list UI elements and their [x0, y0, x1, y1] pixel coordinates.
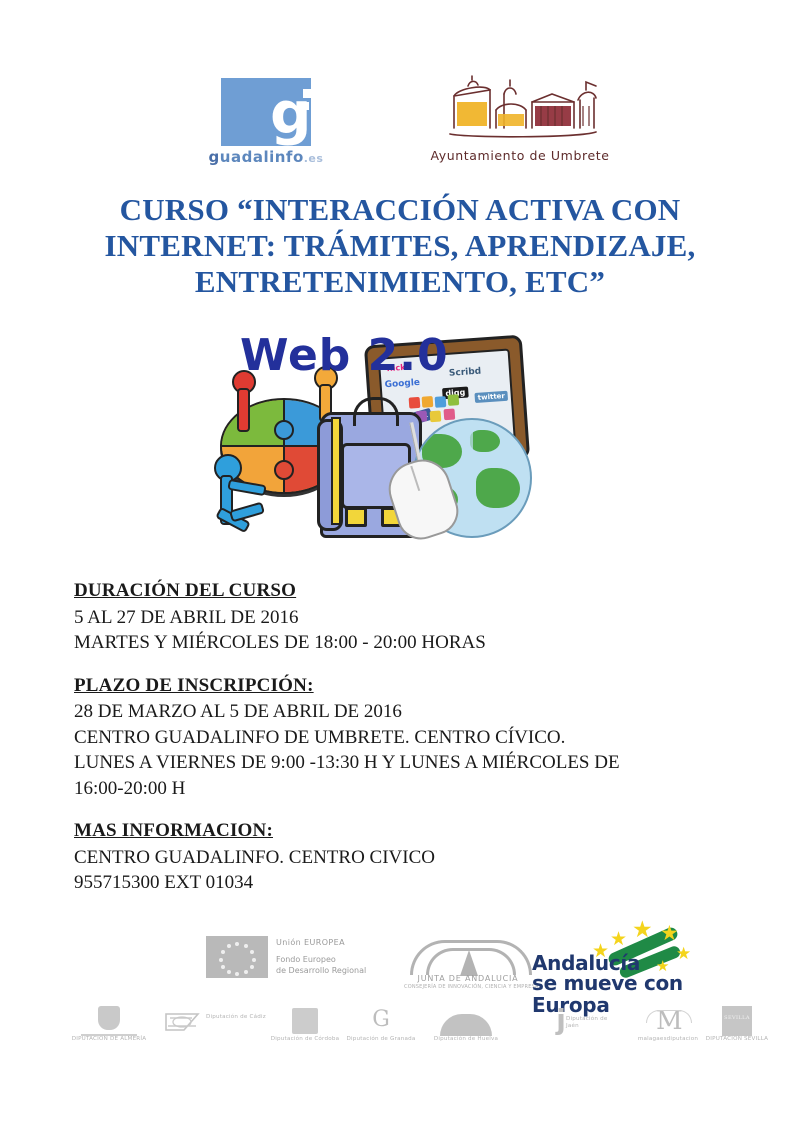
guadalinfo-wordmark-rest: uadalinfo: [220, 148, 304, 166]
eu-stars-icon: [206, 936, 268, 978]
andalucia-star-icon: ★: [660, 924, 679, 943]
poster-body-text: DURACIÓN DEL CURSO 5 AL 27 DE ABRIL DE 2…: [74, 578, 734, 913]
section-plazo-heading: PLAZO DE INSCRIPCIÓN:: [74, 673, 314, 699]
sevilla-mark-icon: SEVILLA: [722, 1006, 752, 1036]
andalucia-star-icon: ★: [610, 930, 627, 949]
cordoba-mark-icon: [292, 1008, 318, 1034]
page-title-line-3: ENTRETENIMIENTO, ETC”: [60, 264, 740, 300]
diputacion-cadiz-logo: Diputación de Cádiz: [160, 1006, 270, 1064]
page-title: CURSO “INTERACCIÓN ACTIVA CON INTERNET: …: [60, 192, 740, 300]
diputacion-granada-caption: Diputación de Granada: [342, 1036, 420, 1043]
almeria-crest-icon: [98, 1006, 120, 1030]
backpack-trim: [331, 417, 341, 525]
section-plazo: PLAZO DE INSCRIPCIÓN: 28 DE MARZO AL 5 D…: [74, 673, 734, 802]
diputacion-cordoba-caption: Diputación de Córdoba: [266, 1036, 344, 1043]
guadalinfo-wordmark-tld: .es: [304, 152, 324, 165]
diputacion-huelva-logo: Diputación de Huelva: [418, 1006, 514, 1064]
junta-subtitle: CONSEJERÍA DE INNOVACIÓN, CIENCIA Y EMPR…: [404, 984, 532, 990]
page-title-line-1: CURSO “INTERACCIÓN ACTIVA CON: [60, 192, 740, 228]
section-duracion-line-1: 5 AL 27 DE ABRIL DE 2016: [74, 605, 734, 631]
eu-subtitle: Fondo Europeo de Desarrollo Regional: [276, 954, 366, 976]
section-plazo-line-3: LUNES A VIERNES DE 9:00 -13:30 H Y LUNES…: [74, 750, 734, 776]
backpack-buckle: [345, 507, 367, 527]
eu-subtitle-line-1: Fondo Europeo: [276, 955, 336, 964]
section-duracion: DURACIÓN DEL CURSO 5 AL 27 DE ABRIL DE 2…: [74, 578, 734, 656]
andalucia-star-icon: ★: [676, 944, 691, 963]
stick-figure-blue-icon: [214, 454, 242, 482]
guadalinfo-wordmark-g: g: [209, 148, 220, 166]
web2-headline: Web 2.0: [240, 334, 449, 378]
section-duracion-line-2: MARTES Y MIÉRCOLES DE 18:00 - 20:00 HORA…: [74, 630, 734, 656]
huelva-arc-icon: [440, 1014, 492, 1036]
andalucia-se-mueve-con-europa-logo: ★ ★ ★ ★ ★ ★ Andalucía se mueve con Europ…: [532, 918, 710, 994]
section-mas-informacion-line-2: 955715300 EXT 01034: [74, 870, 734, 896]
page-title-line-2: INTERNET: TRÁMITES, APRENDIZAJE,: [60, 228, 740, 264]
twitter-logo-icon: twitter: [474, 391, 508, 403]
poster-page: g guadalinfo.es: [0, 0, 800, 1132]
guadalinfo-pixel-icon: [301, 102, 309, 110]
diputacion-granada-logo: G Diputación de Granada: [342, 1006, 420, 1064]
diputacion-cordoba-logo: Diputación de Córdoba: [266, 1006, 344, 1064]
guadalinfo-logo: g guadalinfo.es: [196, 78, 336, 178]
junta-title: JUNTA DE ANDALUCIA: [404, 974, 532, 983]
guadalinfo-pixel-icon: [303, 89, 312, 98]
union-europea-logo: Unión EUROPEA Fondo Europeo de Desarroll…: [206, 934, 376, 988]
guadalinfo-pixel-icon: [315, 99, 328, 111]
section-plazo-line-4: 16:00-20:00 H: [74, 776, 734, 802]
diputacion-sevilla-caption: DIPUTACIÓN SEVILLA: [698, 1036, 776, 1043]
guadalinfo-logo-mark: g: [221, 78, 311, 146]
diputacion-sevilla-logo: SEVILLA DIPUTACIÓN SEVILLA: [698, 1006, 776, 1064]
diputacion-jaen-logo: j Diputación de Jaén: [522, 1006, 622, 1064]
diputacion-almeria-caption: DIPUTACIÓN DE ALMERÍA: [70, 1036, 148, 1043]
jaen-j-icon: j: [552, 1006, 570, 1034]
eu-subtitle-line-2: de Desarrollo Regional: [276, 966, 366, 975]
header-logo-row: g guadalinfo.es: [0, 72, 800, 182]
junta-de-andalucia-logo: JUNTA DE ANDALUCIA CONSEJERÍA DE INNOVAC…: [404, 926, 532, 992]
diputacion-huelva-caption: Diputación de Huelva: [418, 1036, 514, 1043]
section-mas-informacion: MAS INFORMACION: CENTRO GUADALINFO. CENT…: [74, 818, 734, 896]
backpack-handle: [353, 397, 399, 426]
section-plazo-line-2: CENTRO GUADALINFO DE UMBRETE. CENTRO CÍV…: [74, 725, 734, 751]
eu-title: Unión EUROPEA: [276, 938, 345, 947]
section-mas-informacion-line-1: CENTRO GUADALINFO. CENTRO CIVICO: [74, 845, 734, 871]
footer-logo-area: Unión EUROPEA Fondo Europeo de Desarroll…: [0, 918, 800, 1118]
section-mas-informacion-heading: MAS INFORMACION:: [74, 818, 273, 844]
diputacion-almeria-logo: DIPUTACIÓN DE ALMERÍA: [70, 1006, 148, 1064]
ayuntamiento-building-icon: [428, 72, 612, 148]
scribd-logo-icon: Scribd: [449, 367, 482, 379]
granada-g-icon: G: [372, 1008, 390, 1032]
andalucia-star-icon: ★: [632, 920, 653, 939]
cadiz-mark-icon: [162, 1008, 202, 1036]
section-plazo-line-1: 28 DE MARZO AL 5 DE ABRIL DE 2016: [74, 699, 734, 725]
section-duracion-heading: DURACIÓN DEL CURSO: [74, 578, 296, 604]
guadalinfo-wordmark: guadalinfo.es: [196, 148, 336, 166]
junta-triangle-icon: [460, 950, 478, 976]
web2-illustration: Web 2.0 flickr Google Scribd digg facebo…: [208, 326, 558, 554]
ayuntamiento-umbrete-logo: Ayuntamiento de Umbrete: [420, 72, 620, 180]
ayuntamiento-caption: Ayuntamiento de Umbrete: [420, 148, 620, 163]
diputaciones-logo-row: DIPUTACIÓN DE ALMERÍA Diputación de Cádi…: [70, 1006, 740, 1068]
